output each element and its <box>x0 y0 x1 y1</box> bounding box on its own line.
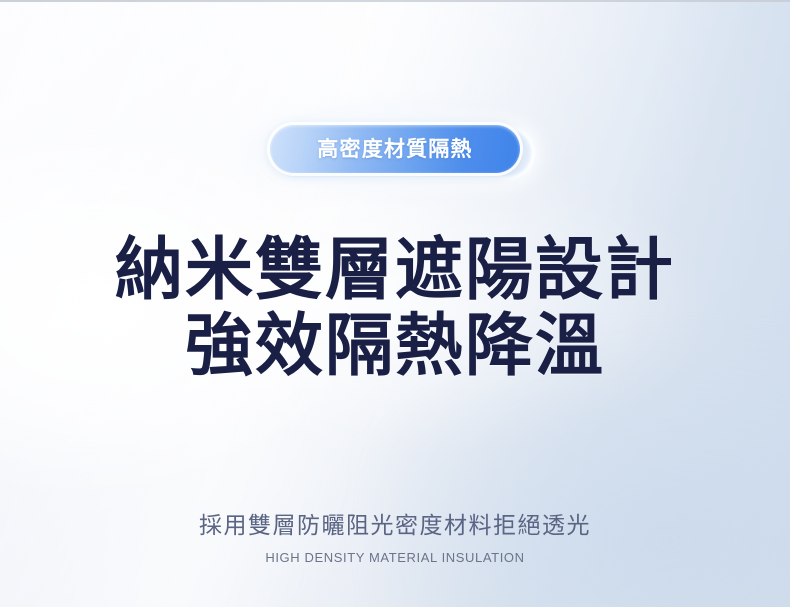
headline-line-2: 強效隔熱降溫 <box>115 308 675 384</box>
subtitle-text: 採用雙層防曬阻光密度材料拒絕透光 <box>0 512 790 540</box>
english-caption: HIGH DENSITY MATERIAL INSULATION <box>0 550 790 566</box>
headline-block: 納米雙層遮陽設計 強效隔熱降溫 <box>115 232 675 384</box>
subtitle-block: 採用雙層防曬阻光密度材料拒絕透光 HIGH DENSITY MATERIAL I… <box>0 512 790 565</box>
headline-line-1: 納米雙層遮陽設計 <box>115 232 675 308</box>
badge-label: 高密度材質隔熱 <box>317 139 472 160</box>
promo-banner: 高密度材質隔熱 納米雙層遮陽設計 強效隔熱降溫 採用雙層防曬阻光密度材料拒絕透光… <box>0 0 790 607</box>
feature-badge: 高密度材質隔熱 <box>259 118 531 180</box>
banner-content: 高密度材質隔熱 納米雙層遮陽設計 強效隔熱降溫 採用雙層防曬阻光密度材料拒絕透光… <box>0 0 790 607</box>
badge-pill: 高密度材質隔熱 <box>270 125 520 173</box>
